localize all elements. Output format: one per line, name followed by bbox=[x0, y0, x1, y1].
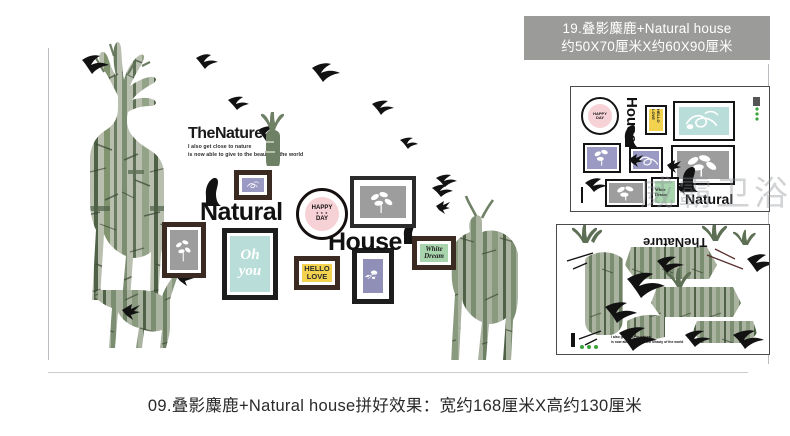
large-stag bbox=[90, 42, 164, 300]
frame-hello-love-mat: HELLO LOVE bbox=[302, 264, 332, 282]
frame-white-dream-text: White Dream bbox=[420, 246, 448, 261]
frame-hello-love: HELLO LOVE bbox=[294, 256, 340, 290]
frame-bird-branch-mat bbox=[360, 256, 386, 296]
sheet-deer-title: TheNature bbox=[643, 235, 707, 250]
frame-oh-you: Oh you bbox=[222, 228, 278, 300]
wall-composition: Oh you HELLO LOVE bbox=[0, 0, 560, 380]
frame-leaf-big-gray bbox=[350, 176, 416, 228]
bird-on-branch-icon bbox=[363, 259, 383, 293]
bottom-caption: 09.叠影麋鹿+Natural house拼好效果：宽约168厘米X高约130厘… bbox=[0, 392, 790, 416]
leaf-branch-icon bbox=[170, 230, 198, 270]
frame-hello-love-text: HELLO LOVE bbox=[302, 265, 332, 281]
sheet-deer-subtitle: I also get close to nature is now able t… bbox=[611, 335, 683, 346]
frame-leaves-gray bbox=[162, 222, 206, 278]
sheet-deer: TheNature I also get close to nature is … bbox=[556, 224, 770, 355]
screenshot-root: Oh you HELLO LOVE bbox=[0, 0, 790, 436]
frame-oh-you-text: Oh you bbox=[230, 248, 270, 280]
spec-label: 19.叠影麋鹿+Natural house 约50X70厘米X约60X90厘米 bbox=[524, 16, 770, 60]
sheet-frames: HAPPY DAY House HELLO LOVE bbox=[570, 86, 770, 212]
doe-right bbox=[451, 196, 518, 360]
happy-day-badge: HAPPY ★ ★ ★ DAY bbox=[296, 188, 348, 240]
wordmark-natural: Natural bbox=[200, 198, 283, 227]
sheet-deer-subtitle-line2: is now able to give to the beauty of the… bbox=[611, 340, 683, 345]
frame-white-dream-mat: White Dream bbox=[420, 244, 448, 262]
small-stag-logo-icon bbox=[252, 112, 288, 166]
wall-artwork-svg bbox=[0, 0, 560, 380]
badge-bottom-text: DAY bbox=[316, 216, 328, 223]
frame-oh-you-mat: Oh you bbox=[230, 236, 270, 292]
sheet-frames-decor-svg bbox=[571, 87, 770, 212]
frame-leaf-big-gray-mat bbox=[357, 183, 409, 221]
frame-white-dream: White Dream bbox=[412, 236, 456, 270]
happy-day-badge-inner: HAPPY ★ ★ ★ DAY bbox=[305, 197, 339, 231]
spec-label-line1: 19.叠影麋鹿+Natural house bbox=[563, 20, 732, 38]
spec-label-line2: 约50X70厘米X约60X90厘米 bbox=[561, 38, 732, 56]
leaf-spray-icon bbox=[360, 186, 406, 218]
frame-leaves-gray-mat bbox=[170, 230, 198, 270]
